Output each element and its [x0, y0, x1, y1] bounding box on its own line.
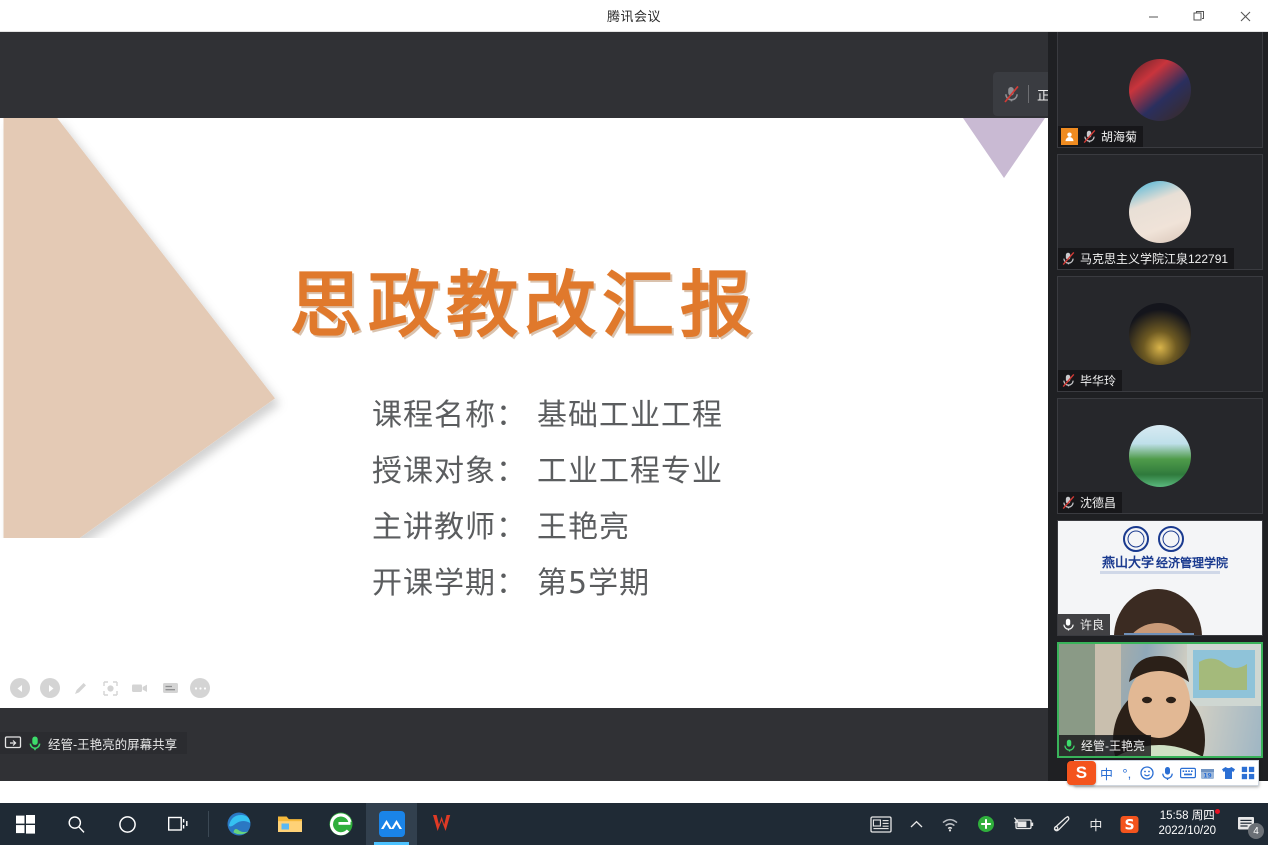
windows-logo-icon	[16, 815, 35, 834]
participant-namebar: 胡海菊	[1058, 126, 1143, 147]
host-badge-icon	[1061, 128, 1078, 145]
cortana-circle-icon	[118, 815, 137, 834]
slide-body: 课程名称：基础工业工程 授课对象：工业工程专业 主讲教师：王艳亮 开课学期：第5…	[372, 388, 992, 612]
mic-muted-icon	[1061, 373, 1076, 388]
participant-tile[interactable]: 经管-王艳亮	[1057, 642, 1263, 758]
360-shield-icon	[977, 815, 995, 833]
folder-icon	[277, 813, 303, 835]
voice-input-icon[interactable]	[1158, 761, 1177, 785]
tencent-meeting[interactable]	[366, 803, 417, 845]
network-status[interactable]	[932, 803, 968, 845]
svg-text:燕山大学: 燕山大学	[1102, 555, 1154, 571]
360-security-tray[interactable]	[968, 803, 1004, 845]
edge-browser[interactable]	[213, 803, 264, 845]
participant-name: 毕华玲	[1080, 372, 1116, 389]
ellipsis-icon[interactable]	[190, 678, 210, 698]
clock-time: 15:58 周四	[1160, 809, 1215, 824]
sogou-input-tray[interactable]: S	[1111, 803, 1148, 845]
show-hidden-icons[interactable]	[901, 803, 932, 845]
slide-line: 授课对象：工业工程专业	[372, 444, 992, 500]
share-status-chip[interactable]: 经管-王艳亮的屏幕共享	[0, 732, 187, 754]
meeting-window-body: 思政教改汇报 课程名称：基础工业工程 授课对象：工业工程专业 主讲教师：王艳亮 …	[0, 32, 1268, 781]
participant-namebar: 许良	[1058, 614, 1110, 635]
news-icon	[870, 815, 892, 834]
system-tray[interactable]: 中 S 15:58 周四 2022/10/20 4	[861, 803, 1268, 845]
avatar	[1129, 425, 1191, 487]
slide-line-value: 基础工业工程	[537, 398, 723, 433]
participant-namebar: 经管-王艳亮	[1059, 735, 1151, 756]
pen-icon[interactable]	[70, 678, 90, 698]
task-view-icon	[168, 816, 189, 833]
battery-icon	[1013, 817, 1035, 831]
subtitles-icon[interactable]	[160, 678, 180, 698]
participant-namebar: 马克思主义学院江泉122791	[1058, 248, 1234, 269]
slide-line-label: 课程名称：	[372, 398, 527, 433]
screen-share-icon	[4, 734, 22, 752]
window-title: 腾讯会议	[607, 6, 661, 25]
edge-icon	[226, 811, 252, 837]
wps-office[interactable]	[417, 803, 468, 845]
grid-icon[interactable]	[1239, 761, 1258, 785]
news-and-interests[interactable]	[861, 803, 901, 845]
participant-name: 经管-王艳亮	[1081, 737, 1145, 754]
slide-line-label: 主讲教师：	[372, 510, 527, 545]
tencent-meeting-icon	[379, 811, 405, 837]
mic-muted-icon	[1061, 251, 1076, 266]
avatar	[1129, 181, 1191, 243]
participant-video-strip[interactable]: 胡海菊 马克思主义学院江泉122791	[1048, 32, 1268, 781]
cortana-button[interactable]	[102, 803, 153, 845]
clock-alert-dot	[1215, 809, 1220, 814]
calendar-icon[interactable]: 19	[1198, 761, 1217, 785]
participant-namebar: 沈德昌	[1058, 492, 1122, 513]
video-camera-icon[interactable]	[130, 678, 150, 698]
slide-line: 开课学期：第5学期	[372, 556, 992, 612]
emoji-icon[interactable]	[1137, 761, 1156, 785]
file-explorer[interactable]	[264, 803, 315, 845]
ime-mode-indicator[interactable]: 中	[1080, 803, 1111, 845]
windows-taskbar[interactable]: 中 S 15:58 周四 2022/10/20 4	[0, 803, 1268, 845]
slide-line: 课程名称：基础工业工程	[372, 388, 992, 444]
wps-icon	[430, 812, 456, 836]
svg-text:S: S	[1125, 817, 1135, 833]
mic-muted-icon	[1061, 495, 1076, 510]
notification-badge: 4	[1248, 823, 1264, 839]
participant-name: 马克思主义学院江泉122791	[1080, 250, 1228, 267]
sogou-icon: S	[1120, 815, 1139, 834]
magnify-region-icon[interactable]	[100, 678, 120, 698]
powerpoint-slide[interactable]: 思政教改汇报 课程名称：基础工业工程 授课对象：工业工程专业 主讲教师：王艳亮 …	[0, 118, 1048, 708]
banner-divider	[1028, 85, 1029, 103]
sogou-ime-toolbar[interactable]: S 中 °,	[1074, 760, 1259, 786]
notification-center-button[interactable]: 4	[1224, 803, 1268, 845]
share-status-text: 经管-王艳亮的屏幕共享	[48, 734, 177, 753]
sogou-icon[interactable]: S	[1067, 761, 1096, 785]
taskbar-divider	[208, 811, 209, 837]
slide-line-label: 授课对象：	[372, 454, 527, 489]
participant-tile[interactable]: 燕山大学 经济管理学院 许良	[1057, 520, 1263, 636]
window-controls	[1130, 0, 1268, 32]
taskbar-clock[interactable]: 15:58 周四 2022/10/20	[1148, 803, 1224, 845]
window-title-bar: 腾讯会议	[0, 0, 1268, 32]
punctuation-mode-button[interactable]: °,	[1117, 761, 1136, 785]
pen-workspace[interactable]	[1044, 803, 1080, 845]
participant-tile[interactable]: 马克思主义学院江泉122791	[1057, 154, 1263, 270]
360-browser[interactable]	[315, 803, 366, 845]
soft-keyboard-icon[interactable]	[1178, 761, 1197, 785]
mic-on-icon	[1061, 617, 1076, 632]
shirt-icon[interactable]	[1218, 761, 1237, 785]
slide-line-value: 第5学期	[537, 566, 650, 601]
slide-line: 主讲教师：王艳亮	[372, 500, 992, 556]
slide-line-value: 工业工程专业	[537, 454, 723, 489]
svg-text:经济管理学院: 经济管理学院	[1156, 555, 1228, 570]
mic-muted-icon	[1082, 129, 1097, 144]
chinese-mode-button[interactable]: 中	[1097, 761, 1116, 785]
participant-tile[interactable]: 沈德昌	[1057, 398, 1263, 514]
participant-name: 胡海菊	[1101, 128, 1137, 145]
slide-line-label: 开课学期：	[372, 566, 527, 601]
wifi-icon	[941, 817, 959, 832]
mic-on-icon	[28, 735, 42, 751]
slide-line-value: 王艳亮	[537, 510, 630, 545]
start-button[interactable]	[0, 803, 51, 845]
share-top-letterbox	[0, 32, 1048, 118]
pen-workspace-icon	[1053, 815, 1071, 833]
svg-text:19: 19	[1204, 773, 1212, 780]
decorative-purple-triangle	[963, 118, 1045, 178]
360-browser-icon	[328, 811, 354, 837]
participant-name: 沈德昌	[1080, 494, 1116, 511]
participant-name: 许良	[1080, 616, 1104, 633]
powerpoint-presenter-controls[interactable]	[10, 678, 210, 698]
minimize-button[interactable]	[1130, 0, 1176, 32]
clock-date: 2022/10/20	[1158, 824, 1216, 839]
participant-namebar: 毕华玲	[1058, 370, 1122, 391]
close-button[interactable]	[1222, 0, 1268, 32]
avatar	[1129, 59, 1191, 121]
mic-muted-icon	[1003, 85, 1020, 104]
avatar	[1129, 303, 1191, 365]
prev-arrow-icon[interactable]	[10, 678, 30, 698]
mic-on-icon	[1062, 738, 1077, 753]
next-arrow-icon[interactable]	[40, 678, 60, 698]
participant-tile[interactable]: 毕华玲	[1057, 276, 1263, 392]
search-button[interactable]	[51, 803, 102, 845]
participant-tile[interactable]: 胡海菊	[1057, 32, 1263, 148]
chevron-up-icon	[910, 820, 923, 829]
shared-screen-area[interactable]: 思政教改汇报 课程名称：基础工业工程 授课对象：工业工程专业 主讲教师：王艳亮 …	[0, 32, 1048, 781]
restore-button[interactable]	[1176, 0, 1222, 32]
task-view-button[interactable]	[153, 803, 204, 845]
slide-title: 思政教改汇报	[0, 246, 1048, 351]
search-icon	[67, 815, 86, 834]
battery-status[interactable]	[1004, 803, 1044, 845]
